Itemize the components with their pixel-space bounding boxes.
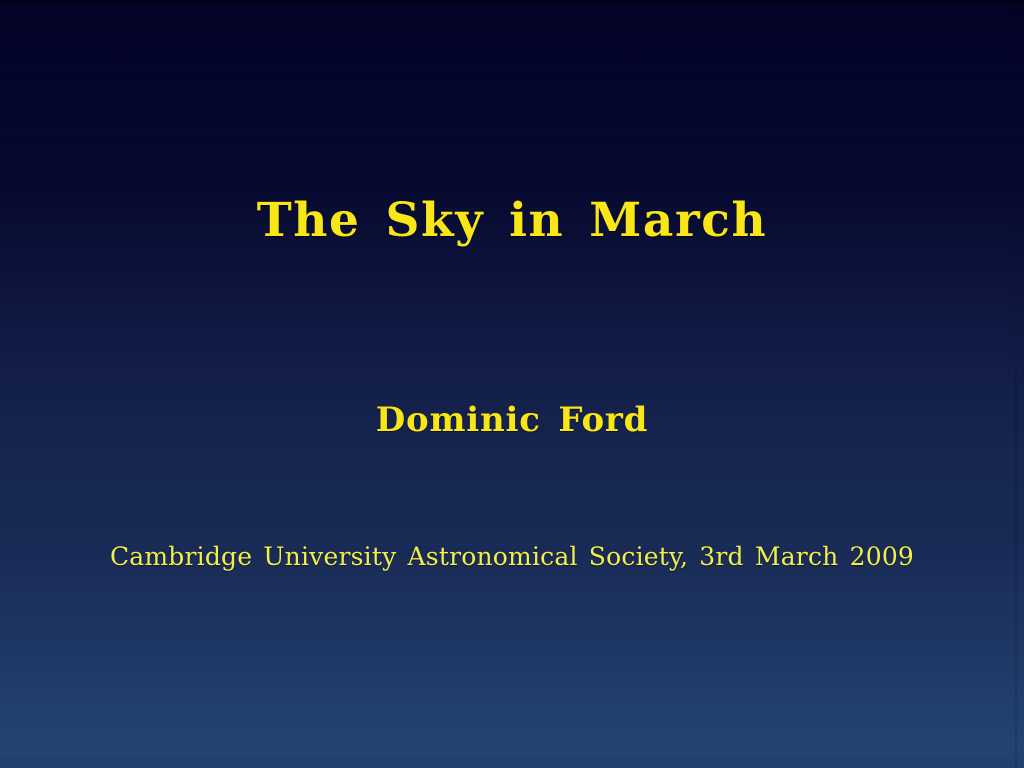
title-block: The Sky in March bbox=[0, 196, 1024, 247]
slide-title: The Sky in March bbox=[0, 196, 1024, 247]
background-banding-overlay bbox=[0, 0, 1024, 768]
institute-block: Cambridge University Astronomical Societ… bbox=[0, 543, 1024, 571]
slide-institute-and-date: Cambridge University Astronomical Societ… bbox=[0, 543, 1024, 571]
right-edge-seam bbox=[1015, 0, 1017, 768]
slide-author: Dominic Ford bbox=[0, 402, 1024, 439]
author-block: Dominic Ford bbox=[0, 402, 1024, 439]
top-edge-strip bbox=[0, 0, 1024, 3]
presentation-slide: The Sky in March Dominic Ford Cambridge … bbox=[0, 0, 1024, 768]
